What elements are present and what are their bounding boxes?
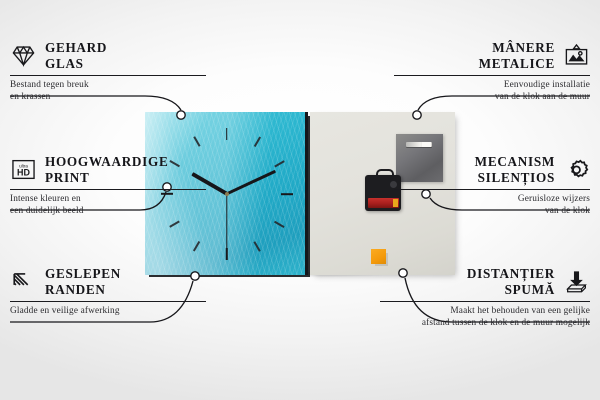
feature-tempered-glass: GEHARD GLAS Bestand tegen breuk en krass…	[10, 40, 206, 103]
feature-title: HOOGWAARDIGE PRINT	[45, 154, 168, 185]
feature-divider	[394, 189, 590, 190]
feature-title-line1: MÂNERE	[479, 40, 555, 56]
feature-title-line2: GLAS	[45, 56, 107, 72]
feature-high-quality-print: ultra HD HOOGWAARDIGE PRINT Intense kleu…	[10, 154, 206, 217]
feature-divider	[380, 301, 590, 302]
feature-description: Maakt het behouden van een gelijke afsta…	[380, 306, 590, 329]
feature-description: Geruisloze wijzers van de klok	[394, 194, 590, 217]
feature-header: ultra HD HOOGWAARDIGE PRINT	[10, 154, 206, 185]
feature-sub-line1: Gladde en veilige afwerking	[10, 306, 206, 318]
clock-center-pin	[225, 192, 229, 196]
feature-sub-line2: van de klok	[394, 206, 590, 218]
feature-sub-line1: Geruisloze wijzers	[394, 194, 590, 206]
feature-ground-edges: GESLEPEN RANDEN Gladde en veilige afwerk…	[10, 266, 206, 318]
feature-title-line1: DISTANȚIER	[467, 266, 555, 282]
feature-sub-line2: afstand tussen de klok en de muur mogeli…	[380, 318, 590, 330]
press-down-icon	[563, 268, 590, 295]
infographic-stage: GEHARD GLAS Bestand tegen breuk en krass…	[0, 0, 600, 400]
feature-title-line1: HOOGWAARDIGE	[45, 154, 168, 170]
feature-divider	[10, 75, 206, 76]
feature-description: Gladde en veilige afwerking	[10, 306, 206, 318]
feature-sub-line2: een duidelijk beeld	[10, 206, 206, 218]
feature-header: DISTANȚIER SPUMĂ	[380, 266, 590, 297]
feature-title: MECANISM SILENȚIOS	[475, 154, 555, 185]
feature-header: GEHARD GLAS	[10, 40, 206, 71]
feature-metal-hangers: MÂNERE METALICE Eenvoudige installatie v…	[394, 40, 590, 103]
feature-sub-line2: van de klok aan de muur	[394, 92, 590, 104]
feature-description: Eenvoudige installatie van de klok aan d…	[394, 80, 590, 103]
feature-title-line2: PRINT	[45, 170, 168, 186]
feature-divider	[10, 301, 206, 302]
feature-title: GEHARD GLAS	[45, 40, 107, 71]
feature-divider	[394, 75, 590, 76]
feature-foam-spacer: DISTANȚIER SPUMĂ Maakt het behouden van …	[380, 266, 590, 329]
feature-divider	[10, 189, 206, 190]
feature-sub-line1: Eenvoudige installatie	[394, 80, 590, 92]
feature-title-line2: SILENȚIOS	[475, 170, 555, 186]
feature-title: MÂNERE METALICE	[479, 40, 555, 71]
feature-silent-mechanism: MECANISM SILENȚIOS Geruisloze wijzers va…	[394, 154, 590, 217]
clock-tick	[227, 193, 293, 195]
ultra-hd-icon: ultra HD	[10, 156, 37, 183]
feature-title-line2: SPUMĂ	[467, 282, 555, 298]
feature-title-line1: MECANISM	[475, 154, 555, 170]
gear-icon	[563, 156, 590, 183]
clock-second-hand	[226, 194, 227, 256]
feature-title-line2: METALICE	[479, 56, 555, 72]
hanging-loop	[376, 169, 394, 180]
feature-header: MECANISM SILENȚIOS	[394, 154, 590, 185]
feature-sub-line2: en krassen	[10, 92, 206, 104]
feature-header: MÂNERE METALICE	[394, 40, 590, 71]
feature-title-line1: GESLEPEN	[45, 266, 121, 282]
ultra-hd-large-label: HD	[17, 168, 30, 178]
foam-spacer	[371, 249, 386, 264]
feature-sub-line1: Bestand tegen breuk	[10, 80, 206, 92]
bevelled-edges-icon	[10, 268, 37, 295]
feature-title: GESLEPEN RANDEN	[45, 266, 121, 297]
feature-header: GESLEPEN RANDEN	[10, 266, 206, 297]
feature-description: Intense kleuren en een duidelijk beeld	[10, 194, 206, 217]
feature-description: Bestand tegen breuk en krassen	[10, 80, 206, 103]
feature-title-line1: GEHARD	[45, 40, 107, 56]
feature-title: DISTANȚIER SPUMĂ	[467, 266, 555, 297]
clock-tick	[226, 128, 228, 194]
picture-hanger-icon	[563, 42, 590, 69]
hanger-slot	[406, 142, 432, 147]
feature-sub-line1: Intense kleuren en	[10, 194, 206, 206]
diamond-icon	[10, 42, 37, 69]
feature-title-line2: RANDEN	[45, 282, 121, 298]
feature-sub-line1: Maakt het behouden van een gelijke	[380, 306, 590, 318]
